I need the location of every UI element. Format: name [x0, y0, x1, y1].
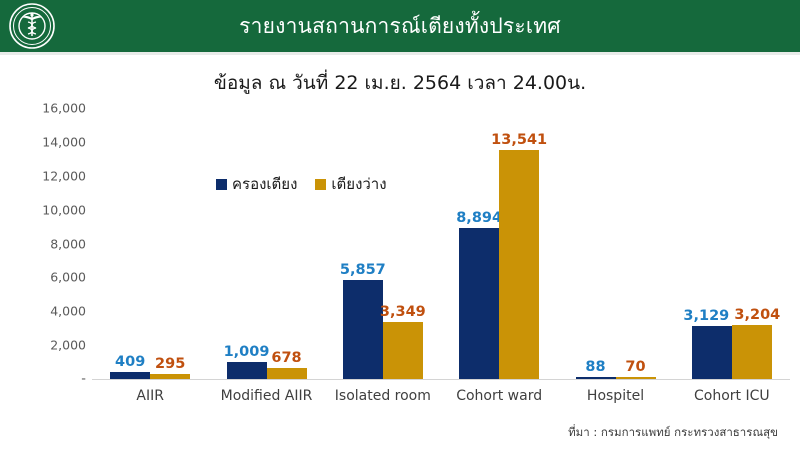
bar-chart: 4092951,0096785,8573,3498,89413,54188703… — [0, 100, 800, 412]
legend-item-vacant[interactable]: เตียงว่าง — [315, 172, 386, 196]
page-title: รายงานสถานการณ์เตียงทั้งประเทศ — [0, 0, 800, 52]
bar-occupied[interactable]: 5,857 — [343, 280, 383, 379]
legend-label-vacant: เตียงว่าง — [331, 172, 386, 196]
x-axis-label: Modified AIIR — [221, 388, 313, 404]
bar-vacant[interactable]: 13,541 — [499, 150, 539, 379]
chart-legend: ครองเตียง เตียงว่าง — [216, 172, 387, 196]
bar-vacant[interactable]: 678 — [267, 368, 307, 379]
x-axis-baseline — [92, 379, 790, 380]
plot-area: 4092951,0096785,8573,3498,89413,54188703… — [92, 108, 790, 379]
bar-occupied[interactable]: 3,129 — [692, 326, 732, 379]
bar-occupied[interactable]: 409 — [110, 372, 150, 379]
bar-value-label: 13,541 — [491, 132, 547, 148]
x-axis-label: AIIR — [136, 388, 164, 404]
bar-value-label: 409 — [115, 354, 145, 370]
bar-group: 3,1293,204 — [692, 108, 772, 379]
source-note: ที่มา : กรมการแพทย์ กระทรวงสาธารณสุข — [568, 424, 778, 442]
x-axis-label: Cohort ward — [456, 388, 542, 404]
bar-value-label: 70 — [625, 359, 645, 375]
bar-value-label: 88 — [585, 359, 605, 375]
bar-vacant[interactable]: 3,349 — [383, 322, 423, 379]
page-header: รายงานสถานการณ์เตียงทั้งประเทศ — [0, 0, 800, 52]
x-axis-label: Cohort ICU — [694, 388, 770, 404]
legend-label-occupied: ครองเตียง — [232, 172, 297, 196]
bar-value-label: 5,857 — [340, 262, 386, 278]
bar-group: 8,89413,541 — [459, 108, 539, 379]
legend-swatch-occupied-icon — [216, 179, 227, 190]
bar-occupied[interactable]: 8,894 — [459, 228, 499, 379]
x-axis-label: Hospitel — [587, 388, 644, 404]
bar-value-label: 3,204 — [734, 307, 780, 323]
x-axis-label: Isolated room — [335, 388, 431, 404]
bar-group: 1,009678 — [227, 108, 307, 379]
chart-subtitle-timestamp: ข้อมูล ณ วันที่ 22 เม.ย. 2564 เวลา 24.00… — [0, 68, 800, 98]
bar-group: 8870 — [576, 108, 656, 379]
bar-vacant[interactable]: 3,204 — [732, 325, 772, 379]
bar-group: 5,8573,349 — [343, 108, 423, 379]
bar-value-label: 3,349 — [380, 304, 426, 320]
bar-occupied[interactable]: 1,009 — [227, 362, 267, 379]
legend-swatch-vacant-icon — [315, 179, 326, 190]
bar-value-label: 8,894 — [456, 210, 502, 226]
bar-value-label: 3,129 — [683, 308, 729, 324]
bar-value-label: 678 — [271, 350, 301, 366]
bar-value-label: 1,009 — [224, 344, 270, 360]
header-divider — [0, 52, 800, 55]
bar-value-label: 295 — [155, 356, 185, 372]
legend-item-occupied[interactable]: ครองเตียง — [216, 172, 297, 196]
bar-group: 409295 — [110, 108, 190, 379]
